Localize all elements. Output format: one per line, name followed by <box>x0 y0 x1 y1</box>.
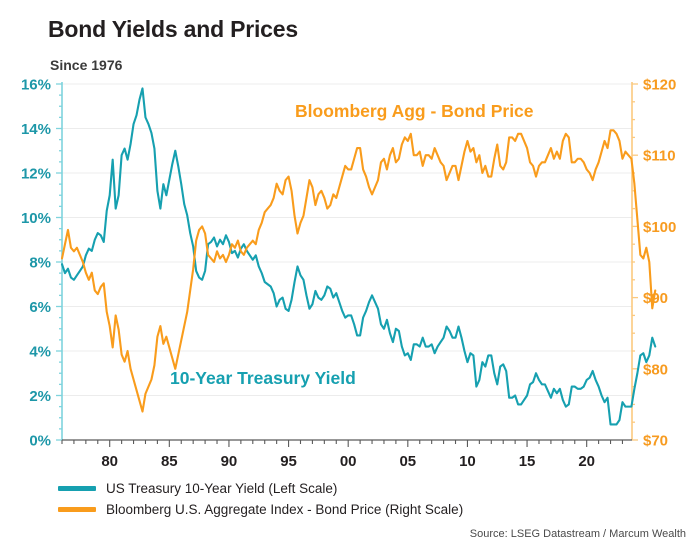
axis-ticks <box>56 84 638 447</box>
chart-legend: US Treasury 10-Year Yield (Left Scale) B… <box>0 478 700 520</box>
annotation-treasury-yield: 10-Year Treasury Yield <box>170 368 356 388</box>
y-axis-left-tick-label: 0% <box>29 433 51 450</box>
series-line-treasury-yield <box>62 88 655 424</box>
y-axis-right-tick-label: $100 <box>643 219 676 236</box>
x-axis-tick-label: 05 <box>399 453 416 470</box>
bond-yields-prices-chart: 0%2%4%6%8%10%12%14%16%$70$80$90$100$110$… <box>0 0 700 470</box>
y-axis-left-tick-label: 16% <box>21 77 51 94</box>
legend-item-bond-price: Bloomberg U.S. Aggregate Index - Bond Pr… <box>0 499 700 520</box>
legend-label-bond-price: Bloomberg U.S. Aggregate Index - Bond Pr… <box>106 502 463 517</box>
legend-swatch-teal <box>58 486 96 491</box>
y-axis-left-tick-label: 4% <box>29 344 51 361</box>
x-axis-tick-label: 20 <box>578 453 595 470</box>
y-axis-right-tick-label: $80 <box>643 361 668 378</box>
y-axis-left-tick-label: 12% <box>21 166 51 183</box>
x-axis-tick-label: 85 <box>161 453 178 470</box>
series-line-bond-price <box>62 130 655 411</box>
annotation-bond-price: Bloomberg Agg - Bond Price <box>295 101 534 121</box>
y-axis-right-tick-label: $120 <box>643 77 676 94</box>
source-note: Source: LSEG Datastream / Marcum Wealth <box>470 528 686 540</box>
x-axis-tick-label: 15 <box>519 453 536 470</box>
x-axis-tick-label: 10 <box>459 453 476 470</box>
y-axis-left-tick-label: 8% <box>29 255 51 272</box>
x-axis-tick-label: 00 <box>340 453 357 470</box>
x-axis-tick-label: 80 <box>101 453 118 470</box>
y-axis-left-tick-label: 6% <box>29 299 51 316</box>
y-axis-left-tick-label: 2% <box>29 388 51 405</box>
legend-label-treasury-yield: US Treasury 10-Year Yield (Left Scale) <box>106 481 337 496</box>
series-lines <box>62 88 655 424</box>
y-axis-right-tick-label: $110 <box>643 148 676 165</box>
y-axis-left-tick-label: 14% <box>21 121 51 138</box>
plot-area: 0%2%4%6%8%10%12%14%16%$70$80$90$100$110$… <box>0 0 700 470</box>
legend-item-treasury-yield: US Treasury 10-Year Yield (Left Scale) <box>0 478 700 499</box>
x-axis-tick-label: 90 <box>221 453 238 470</box>
y-axis-right-tick-label: $70 <box>643 433 668 450</box>
y-axis-left-tick-label: 10% <box>21 210 51 227</box>
chart-card: Bond Yields and Prices Since 1976 0%2%4%… <box>0 0 700 560</box>
x-axis-tick-label: 95 <box>280 453 297 470</box>
legend-swatch-orange <box>58 507 96 512</box>
axis-tick-labels: 0%2%4%6%8%10%12%14%16%$70$80$90$100$110$… <box>21 77 676 471</box>
